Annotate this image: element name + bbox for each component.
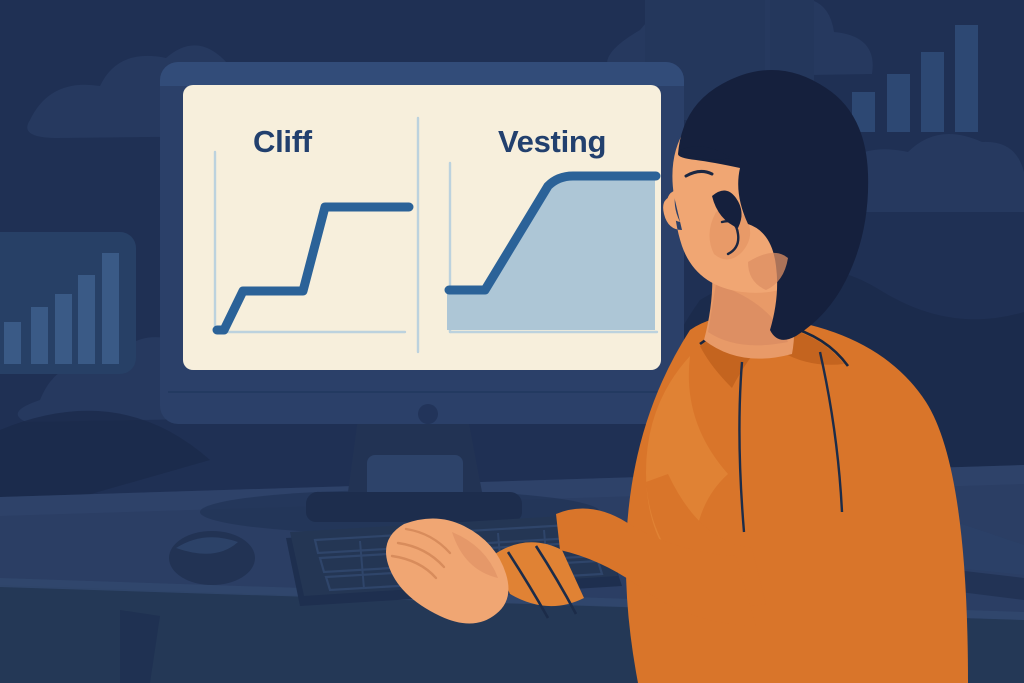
person xyxy=(386,70,968,683)
illustration-canvas: Cliff Vesting xyxy=(0,0,1024,683)
person-layer xyxy=(0,0,1024,683)
